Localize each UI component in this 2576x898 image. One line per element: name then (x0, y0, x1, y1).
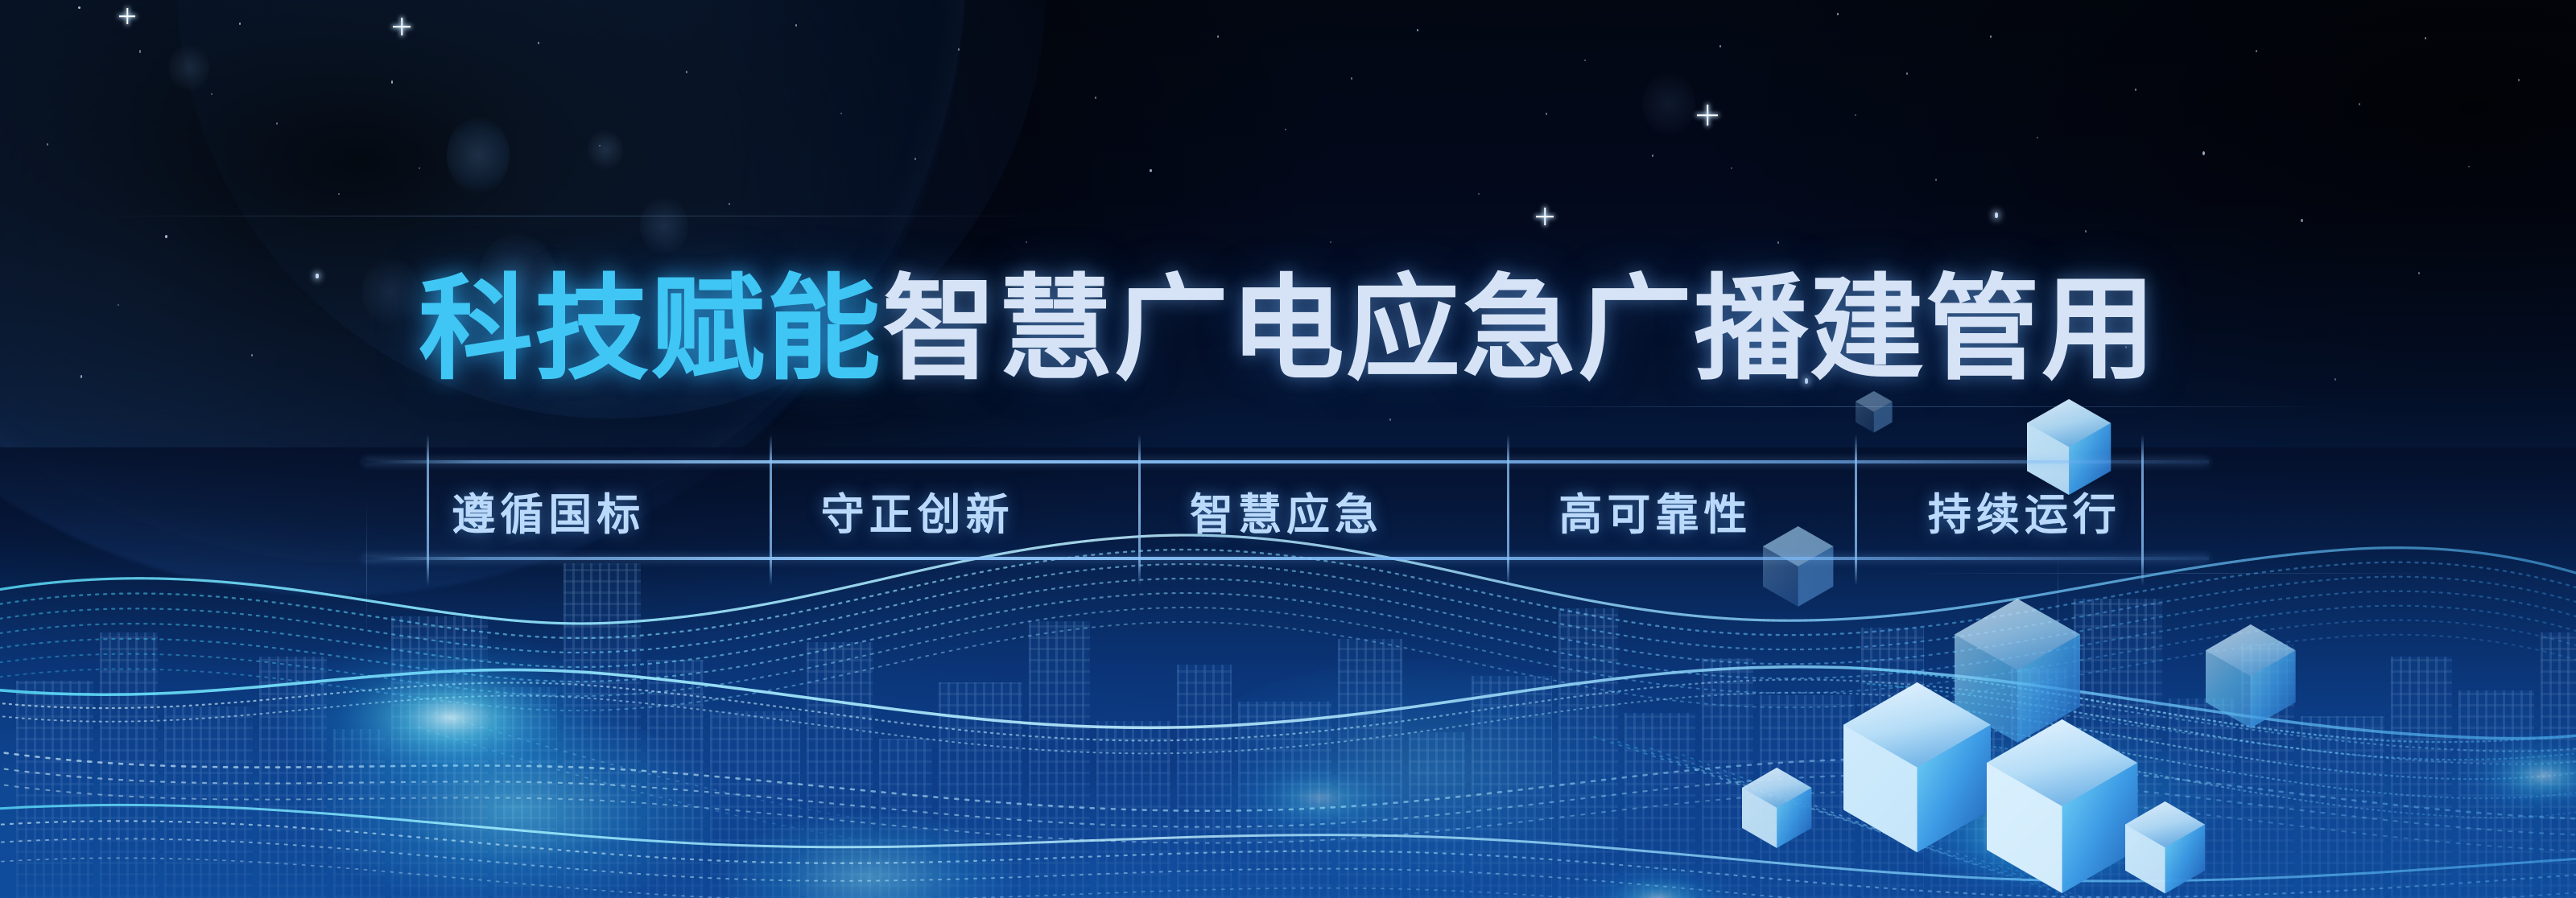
hexagon-crystal (2206, 624, 2296, 728)
promo-banner: 科技赋能智慧广电应急广播建管用 遵循国标 守正创新 智慧应急 高可靠性 持续运行 (0, 0, 2576, 898)
title-plain-text: 智慧广电应急广播建管用 (882, 263, 2157, 396)
hexagon-crystal (1856, 391, 1893, 433)
tag-item-2[interactable]: 智慧应急 (1102, 479, 1471, 542)
tag-item-1[interactable]: 守正创新 (733, 479, 1101, 542)
feature-tag-bar: 遵循国标 守正创新 智慧应急 高可靠性 持续运行 (364, 460, 2209, 560)
tag-item-4[interactable]: 持续运行 (1840, 479, 2209, 542)
star-sparkle-icon (393, 18, 411, 35)
star-sparkle-icon (119, 8, 135, 24)
hexagon-crystal (1987, 719, 2137, 893)
title-accent-text: 科技赋能 (419, 263, 882, 396)
tag-item-0[interactable]: 遵循国标 (364, 479, 733, 542)
star-sparkle-icon (1536, 208, 1554, 225)
tag-item-3[interactable]: 高可靠性 (1471, 479, 1839, 542)
banner-title: 科技赋能智慧广电应急广播建管用 (0, 270, 2576, 389)
star-sparkle-icon (1697, 105, 1718, 126)
tag-list: 遵循国标 守正创新 智慧应急 高可靠性 持续运行 (364, 460, 2209, 560)
